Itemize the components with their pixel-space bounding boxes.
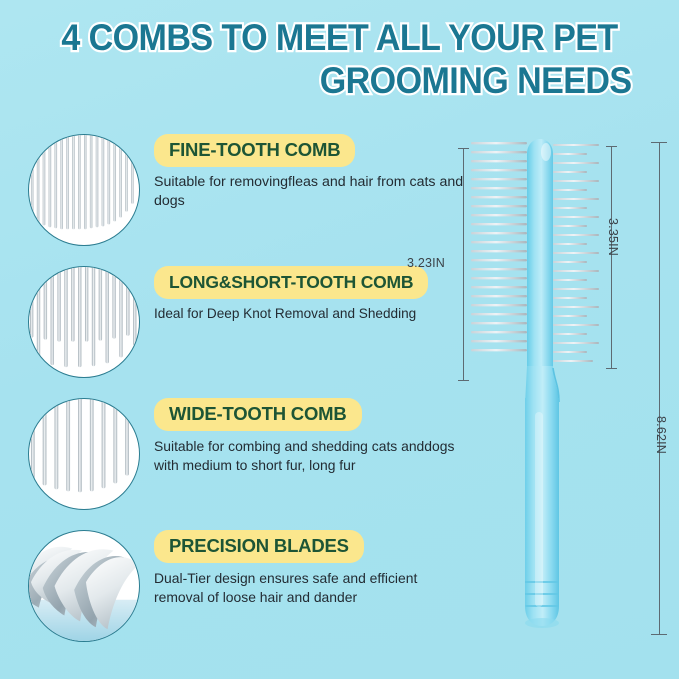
feature-label-wide-tooth-comb: WIDE-TOOTH COMB <box>154 398 362 431</box>
dimension-line-3-23in <box>463 148 464 380</box>
dimension-label-8-62in: 8.62IN <box>654 416 668 454</box>
infographic-page: 4 COMBS TO MEET ALL YOUR PET GROOMING NE… <box>0 0 679 679</box>
feature-label-fine-tooth-comb: FINE-TOOTH COMB <box>154 134 355 167</box>
page-title-line-2: GROOMING NEEDS <box>27 59 652 102</box>
long-short-tooth-comb-icon <box>28 266 140 378</box>
dimension-cap-bottom-3-35in <box>606 368 617 369</box>
feature-fine-tooth-comb: FINE-TOOTH COMB Suitable for removingfle… <box>28 134 458 254</box>
wide-tooth-comb-icon <box>28 398 140 510</box>
dimension-label-3-35in: 3.35IN <box>606 218 620 256</box>
feature-label-precision-blades: PRECISION BLADES <box>154 530 364 563</box>
page-title-line-1: 4 COMBS TO MEET ALL YOUR PET <box>27 16 652 59</box>
feature-precision-blades: PRECISION BLADES Dual-Tier design ensure… <box>28 530 458 650</box>
feature-description-long-short-tooth-comb: Ideal for Deep Knot Removal and Shedding <box>154 305 466 324</box>
dimension-cap-bottom-8-62in <box>651 634 667 635</box>
feature-description-wide-tooth-comb: Suitable for combing and shedding cats a… <box>154 437 466 474</box>
feature-text-block: PRECISION BLADES Dual-Tier design ensure… <box>154 530 470 606</box>
dimension-cap-top-3-35in <box>606 146 617 147</box>
dimension-cap-bottom-3-23in <box>458 380 469 381</box>
dimension-cap-top-8-62in <box>651 142 667 143</box>
page-title: 4 COMBS TO MEET ALL YOUR PET GROOMING NE… <box>0 16 679 102</box>
feature-text-block: FINE-TOOTH COMB Suitable for removingfle… <box>154 134 470 210</box>
feature-description-fine-tooth-comb: Suitable for removingfleas and hair from… <box>154 173 466 210</box>
product-image-pet-grooming-comb: 3.23IN 3.35IN 8.62IN <box>455 120 625 665</box>
feature-description-precision-blades: Dual-Tier design ensures safe and effici… <box>154 569 466 606</box>
precision-blades-icon <box>28 530 140 642</box>
dimension-cap-top-3-23in <box>458 148 469 149</box>
fine-tooth-comb-icon <box>28 134 140 246</box>
dimension-label-3-23in: 3.23IN <box>407 256 445 270</box>
feature-wide-tooth-comb: WIDE-TOOTH COMB Suitable for combing and… <box>28 398 458 518</box>
feature-text-block: LONG&SHORT-TOOTH COMB Ideal for Deep Kno… <box>154 266 470 324</box>
dimension-line-3-35in <box>611 146 612 368</box>
feature-text-block: WIDE-TOOTH COMB Suitable for combing and… <box>154 398 470 474</box>
feature-label-long-short-tooth-comb: LONG&SHORT-TOOTH COMB <box>154 266 428 299</box>
feature-long-short-tooth-comb: LONG&SHORT-TOOTH COMB Ideal for Deep Kno… <box>28 266 458 386</box>
dimension-line-8-62in <box>659 142 660 634</box>
